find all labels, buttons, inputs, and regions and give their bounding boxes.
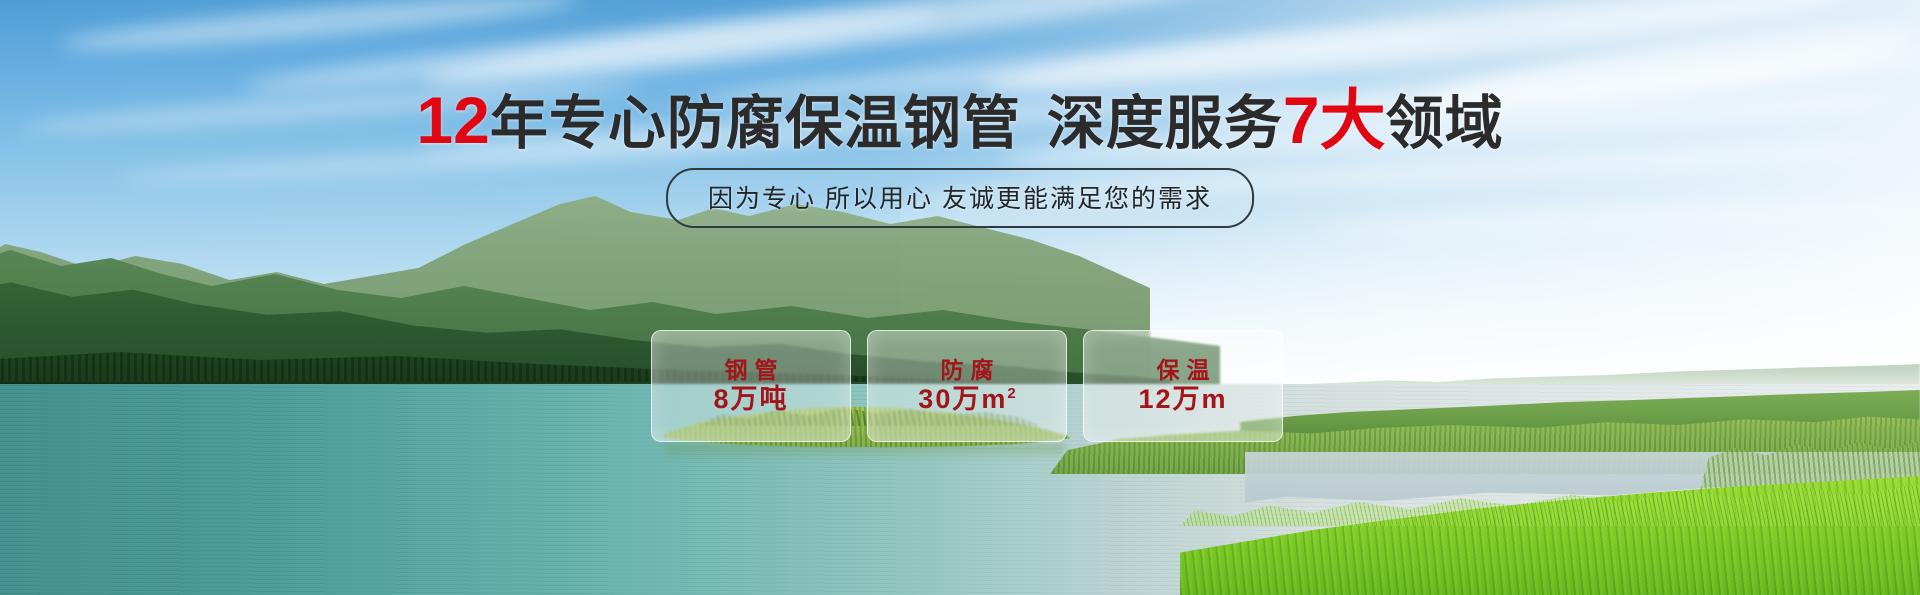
stat-value-text: 8万吨 [713, 384, 788, 414]
stat-card-anticorrosion[interactable]: 防腐 30万m2 [867, 330, 1067, 442]
stat-label: 保温 [1150, 359, 1217, 382]
stat-card-insulation[interactable]: 保温 12万m [1083, 330, 1283, 442]
headline-segment-1: 年专心防腐保温钢管 [490, 91, 1021, 156]
cloud-wisp [1320, 197, 1920, 241]
stat-label: 防腐 [934, 359, 1001, 382]
subtitle-pill: 因为专心 所以用心 友诚更能满足您的需求 [666, 168, 1254, 228]
promo-banner: 12年专心防腐保温钢管深度服务7大领域 因为专心 所以用心 友诚更能满足您的需求… [0, 0, 1920, 595]
page-title: 12年专心防腐保温钢管深度服务7大领域 [0, 84, 1920, 158]
headline-years-number: 12 [416, 83, 489, 157]
headline-fields-number: 7大 [1283, 83, 1386, 157]
stat-value-superscript: 2 [1007, 385, 1015, 402]
stat-value-text: 12万m [1138, 384, 1227, 414]
headline-segment-2: 深度服务 [1047, 91, 1283, 156]
stat-label: 钢管 [718, 359, 785, 382]
stat-value: 8万吨 [713, 386, 788, 413]
stat-value: 30万m2 [918, 386, 1015, 413]
headline-segment-3: 领域 [1386, 91, 1504, 156]
cloud-wisp [60, 0, 580, 59]
stat-card-steel-pipe[interactable]: 钢管 8万吨 [651, 330, 851, 442]
stat-card-group: 钢管 8万吨 防腐 30万m2 保温 12万m [651, 330, 1283, 442]
stat-value-text: 30万m [918, 384, 1007, 414]
stat-value: 12万m [1138, 386, 1227, 413]
